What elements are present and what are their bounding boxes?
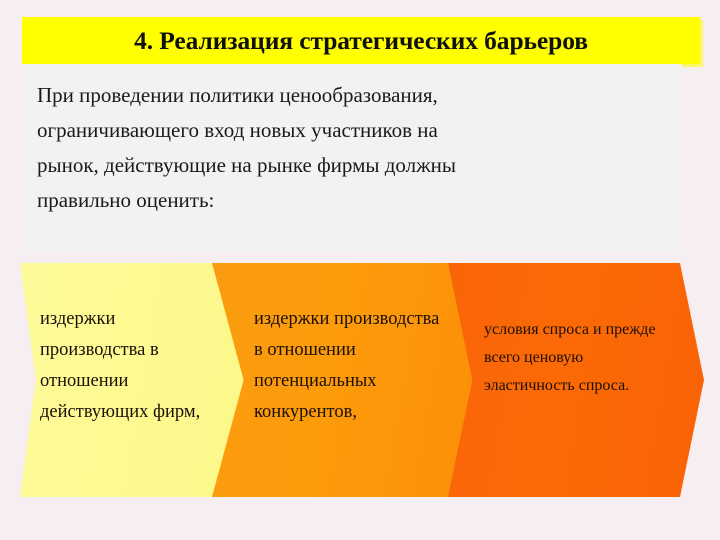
slide-title-banner: 4. Реализация стратегических барьеров <box>22 17 700 64</box>
page-title: 4. Реализация стратегических барьеров <box>134 28 588 54</box>
chevron-step-2: издержки производства в отношении потенц… <box>212 263 480 497</box>
chevron-step-3-label: условия спроса и прежде всего ценовую эл… <box>484 316 670 400</box>
body-line: При проведении политики ценообразования, <box>37 78 664 113</box>
chevron-step-1: издержки производства в отношении действ… <box>20 263 248 497</box>
body-text-panel: При проведении политики ценообразования,… <box>23 64 682 253</box>
body-line: ограничивающего вход новых участников на <box>37 113 664 148</box>
body-line: рынок, действующие на рынке фирмы должны <box>37 148 664 183</box>
body-line: правильно оценить: <box>37 183 664 218</box>
slide-canvas: 4. Реализация стратегических барьеров Пр… <box>0 0 720 540</box>
chevron-step-1-label: издержки производства в отношении действ… <box>40 304 210 428</box>
chevron-process-band: издержки производства в отношении действ… <box>0 263 720 497</box>
chevron-step-3: условия спроса и прежде всего ценовую эл… <box>448 263 704 497</box>
chevron-step-2-label: издержки производства в отношении потенц… <box>254 304 444 428</box>
